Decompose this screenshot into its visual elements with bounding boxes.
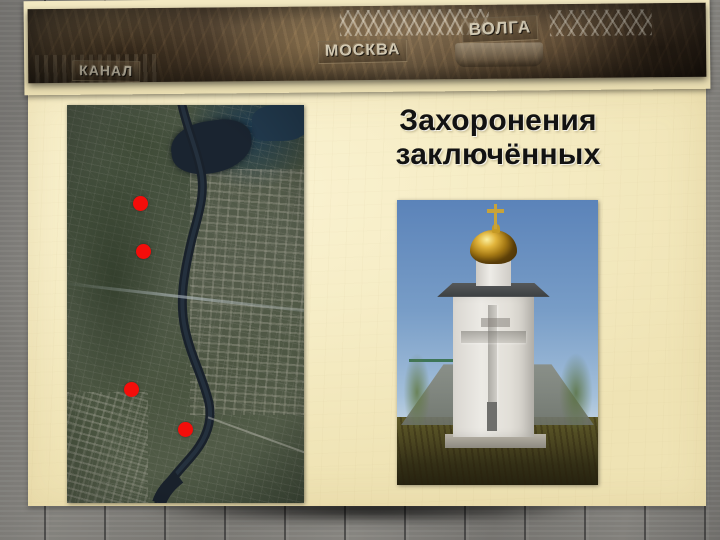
slide-title: Захоронения заключённых [328, 104, 668, 171]
banner-sign-volga: ВОЛГА [461, 15, 538, 43]
banner-region: КАНАЛ МОСКВА ВОЛГА [22, 0, 713, 95]
memorial-chapel-photo [397, 200, 598, 485]
burial-site-marker[interactable] [133, 196, 148, 211]
map-river-volga [67, 105, 304, 503]
photo-cross-bar [487, 209, 504, 213]
banner-crane-truss-motif [550, 9, 652, 36]
photo-tree-left [401, 345, 433, 431]
photo-chapel-window [487, 402, 497, 431]
photo-golden-dome [470, 230, 516, 264]
historical-photo-collage-banner: КАНАЛ МОСКВА ВОЛГА [28, 3, 707, 84]
burial-site-marker[interactable] [178, 422, 193, 437]
banner-sign-moskva: МОСКВА [318, 39, 408, 64]
slide-title-line-1: Захоронения [328, 104, 668, 138]
photo-cross-relief-horizontal [461, 331, 525, 343]
presentation-slide: КАНАЛ МОСКВА ВОЛГА Захоронения заключённ… [0, 0, 720, 540]
satellite-map-with-burial-sites [67, 105, 304, 503]
photo-tree-right [556, 343, 596, 434]
banner-steamboat-motif [455, 42, 543, 67]
banner-sign-kanal: КАНАЛ [72, 60, 140, 82]
burial-site-marker[interactable] [124, 382, 139, 397]
burial-site-marker[interactable] [136, 244, 151, 259]
photo-cross-relief-top-bar [481, 318, 509, 327]
slide-title-line-2: заключённых [328, 138, 668, 172]
